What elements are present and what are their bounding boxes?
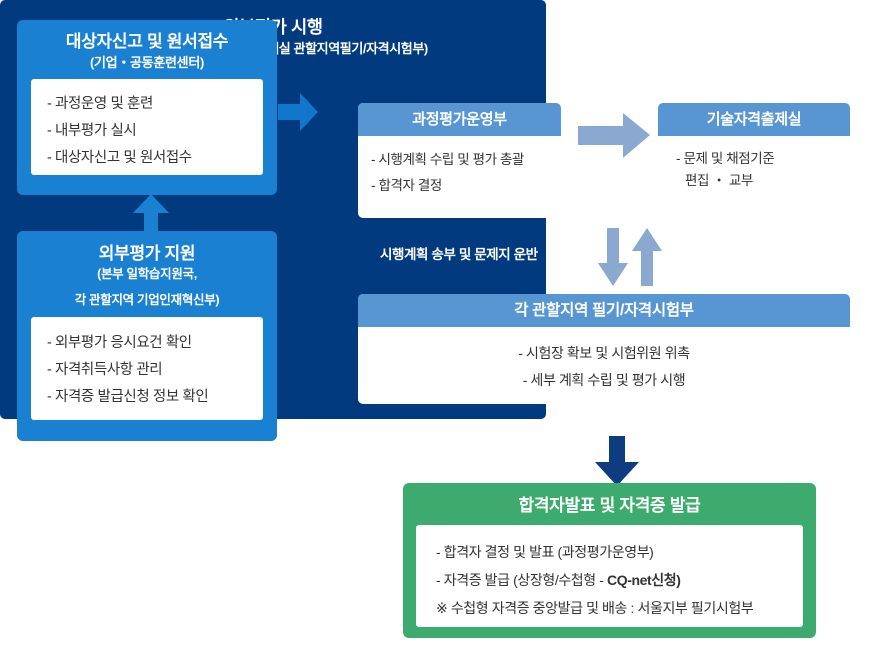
- list-item: - 세부 계획 수립 및 평가 시행: [358, 367, 850, 394]
- card-target-declaration: 대상자신고 및 원서접수 (기업・공동훈련센터) - 과정운영 및 훈련 - 내…: [17, 20, 277, 195]
- list-item-text: - 자격증 발급 (상장형/수첩형 -: [436, 572, 607, 588]
- card-external-support: 외부평가 지원 (본부 일학습지원국, 각 관할지역 기업인재혁신부) - 외부…: [17, 231, 277, 441]
- card-result-body: - 합격자 결정 및 발표 (과정평가운영부) - 자격증 발급 (상장형/수첩…: [416, 525, 803, 627]
- label-problem-request: 문제요청: [575, 163, 621, 182]
- card-exam-office: 기술자격출제실 - 문제 및 채점기준 편집 ・ 교부: [658, 103, 850, 218]
- card-regional-exam-dept: 각 관할지역 필기/자격시험부 - 시험장 확보 및 시험위원 위촉 - 세부 …: [358, 294, 850, 404]
- list-item: - 내부평가 실시: [47, 118, 247, 145]
- list-item: - 대상자신고 및 원서접수: [47, 145, 247, 172]
- arrow-right-icon: [278, 93, 318, 136]
- list-item: 편집 ・ 교부: [676, 170, 850, 192]
- card-support-title: 외부평가 지원: [31, 242, 263, 265]
- card-operation-body: - 시행계획 수립 및 평가 총괄 - 합격자 결정: [358, 136, 561, 199]
- arrow-up-icon: [632, 228, 662, 291]
- card-target-title: 대상자신고 및 원서접수: [31, 31, 263, 53]
- arrow-right-icon: [578, 113, 650, 163]
- list-item: - 합격자 결정 및 발표 (과정평가운영부): [436, 538, 803, 566]
- list-item: - 문제 및 채점기준: [676, 148, 850, 170]
- card-regional-title: 각 관할지역 필기/자격시험부: [358, 294, 850, 327]
- card-regional-body: - 시험장 확보 및 시험위원 위촉 - 세부 계획 수립 및 평가 시행: [358, 327, 850, 394]
- cq-net-label: CQ-net신청): [607, 572, 680, 588]
- card-exam-body: - 문제 및 채점기준 편집 ・ 교부: [658, 136, 850, 192]
- card-support-body: - 외부평가 응시요건 확인 - 자격취득사항 관리 - 자격증 발급신청 정보…: [31, 317, 263, 420]
- card-support-subtitle-line1: (본부 일학습지원국,: [31, 265, 263, 283]
- card-result-title: 합격자발표 및 자격증 발급: [416, 493, 803, 519]
- list-item: - 합격자 결정: [371, 173, 548, 199]
- card-exam-title: 기술자격출제실: [658, 103, 850, 136]
- list-item: - 외부평가 응시요건 확인: [47, 330, 247, 357]
- list-item: ※ 수첩형 자격증 중앙발급 및 배송 : 서울지부 필기시험부: [436, 594, 803, 622]
- card-pass-announcement: 합격자발표 및 자격증 발급 - 합격자 결정 및 발표 (과정평가운영부) -…: [403, 483, 816, 638]
- list-item: - 자격증 발급 (상장형/수첩형 - CQ-net신청): [436, 566, 803, 594]
- list-item: - 과정운영 및 훈련: [47, 91, 247, 118]
- card-target-body: - 과정운영 및 훈련 - 내부평가 실시 - 대상자신고 및 원서접수: [31, 79, 263, 175]
- card-operation-dept: 과정평가운영부 - 시행계획 수립 및 평가 총괄 - 합격자 결정: [358, 103, 561, 218]
- diagram-canvas: 대상자신고 및 원서접수 (기업・공동훈련센터) - 과정운영 및 훈련 - 내…: [0, 0, 890, 664]
- label-result-report: 시행결과보고: [671, 243, 743, 263]
- arrow-down-icon: [598, 228, 628, 291]
- list-item: - 자격취득사항 관리: [47, 357, 247, 384]
- list-item: - 시행계획 수립 및 평가 총괄: [371, 147, 548, 173]
- card-target-subtitle: (기업・공동훈련센터): [31, 53, 263, 72]
- list-item: - 자격증 발급신청 정보 확인: [47, 384, 247, 411]
- list-item: - 시험장 확보 및 시험위원 위촉: [358, 340, 850, 367]
- card-support-subtitle-line2: 각 관할지역 기업인재혁신부): [31, 291, 263, 309]
- arrow-up-icon: [133, 194, 169, 239]
- label-plan-dispatch: 시행계획 송부 및 문제지 운반: [380, 243, 538, 263]
- card-operation-title: 과정평가운영부: [358, 103, 561, 136]
